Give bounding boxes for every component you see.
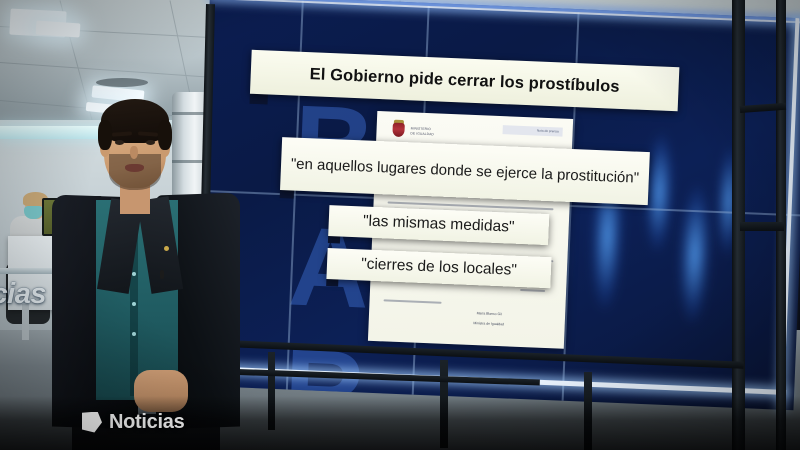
lapel-microphone-icon (160, 270, 164, 279)
presenter-beard (109, 154, 161, 190)
rig-crossbeam (740, 222, 784, 231)
broadcast-frame: icias ias BAR M (0, 0, 800, 450)
news-presenter (60, 74, 230, 450)
rig-floor-rail (210, 368, 540, 386)
channel-bug: Noticias (82, 409, 184, 435)
rig-lower-rail (224, 340, 744, 369)
lapel-pin-icon (164, 246, 169, 251)
antena3-triangle-icon (82, 412, 102, 433)
presenter-nose (130, 146, 138, 159)
presenter-mouth (125, 164, 144, 172)
channel-bug-label: Noticias (109, 411, 184, 434)
